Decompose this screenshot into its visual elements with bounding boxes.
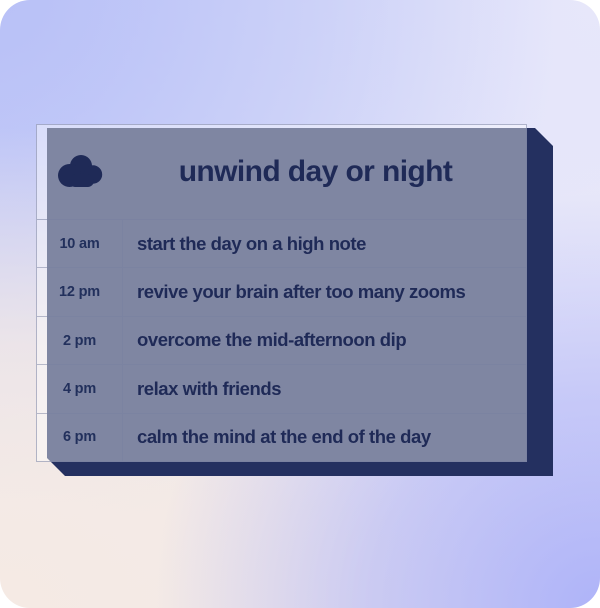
row-activity: start the day on a high note <box>123 220 526 267</box>
row-time: 2 pm <box>37 317 123 364</box>
row-time: 10 am <box>37 220 123 267</box>
table-row: 6 pm calm the mind at the end of the day <box>37 414 526 461</box>
card-header: unwind day or night <box>37 125 526 220</box>
row-time: 6 pm <box>37 414 123 461</box>
cloud-icon <box>57 154 103 190</box>
schedule-table: 10 am start the day on a high note 12 pm… <box>37 220 526 461</box>
poster-canvas: unwind day or night 10 am start the day … <box>0 0 600 608</box>
row-activity: revive your brain after too many zooms <box>123 268 526 315</box>
table-row: 12 pm revive your brain after too many z… <box>37 268 526 316</box>
cloud-icon-cell <box>37 154 123 190</box>
table-row: 2 pm overcome the mid-afternoon dip <box>37 317 526 365</box>
table-row: 4 pm relax with friends <box>37 365 526 413</box>
table-row: 10 am start the day on a high note <box>37 220 526 268</box>
schedule-card: unwind day or night 10 am start the day … <box>36 124 527 462</box>
row-time: 4 pm <box>37 365 123 412</box>
row-activity: calm the mind at the end of the day <box>123 414 526 461</box>
row-activity: relax with friends <box>123 365 526 412</box>
row-time: 12 pm <box>37 268 123 315</box>
page-title: unwind day or night <box>123 157 526 187</box>
row-activity: overcome the mid-afternoon dip <box>123 317 526 364</box>
